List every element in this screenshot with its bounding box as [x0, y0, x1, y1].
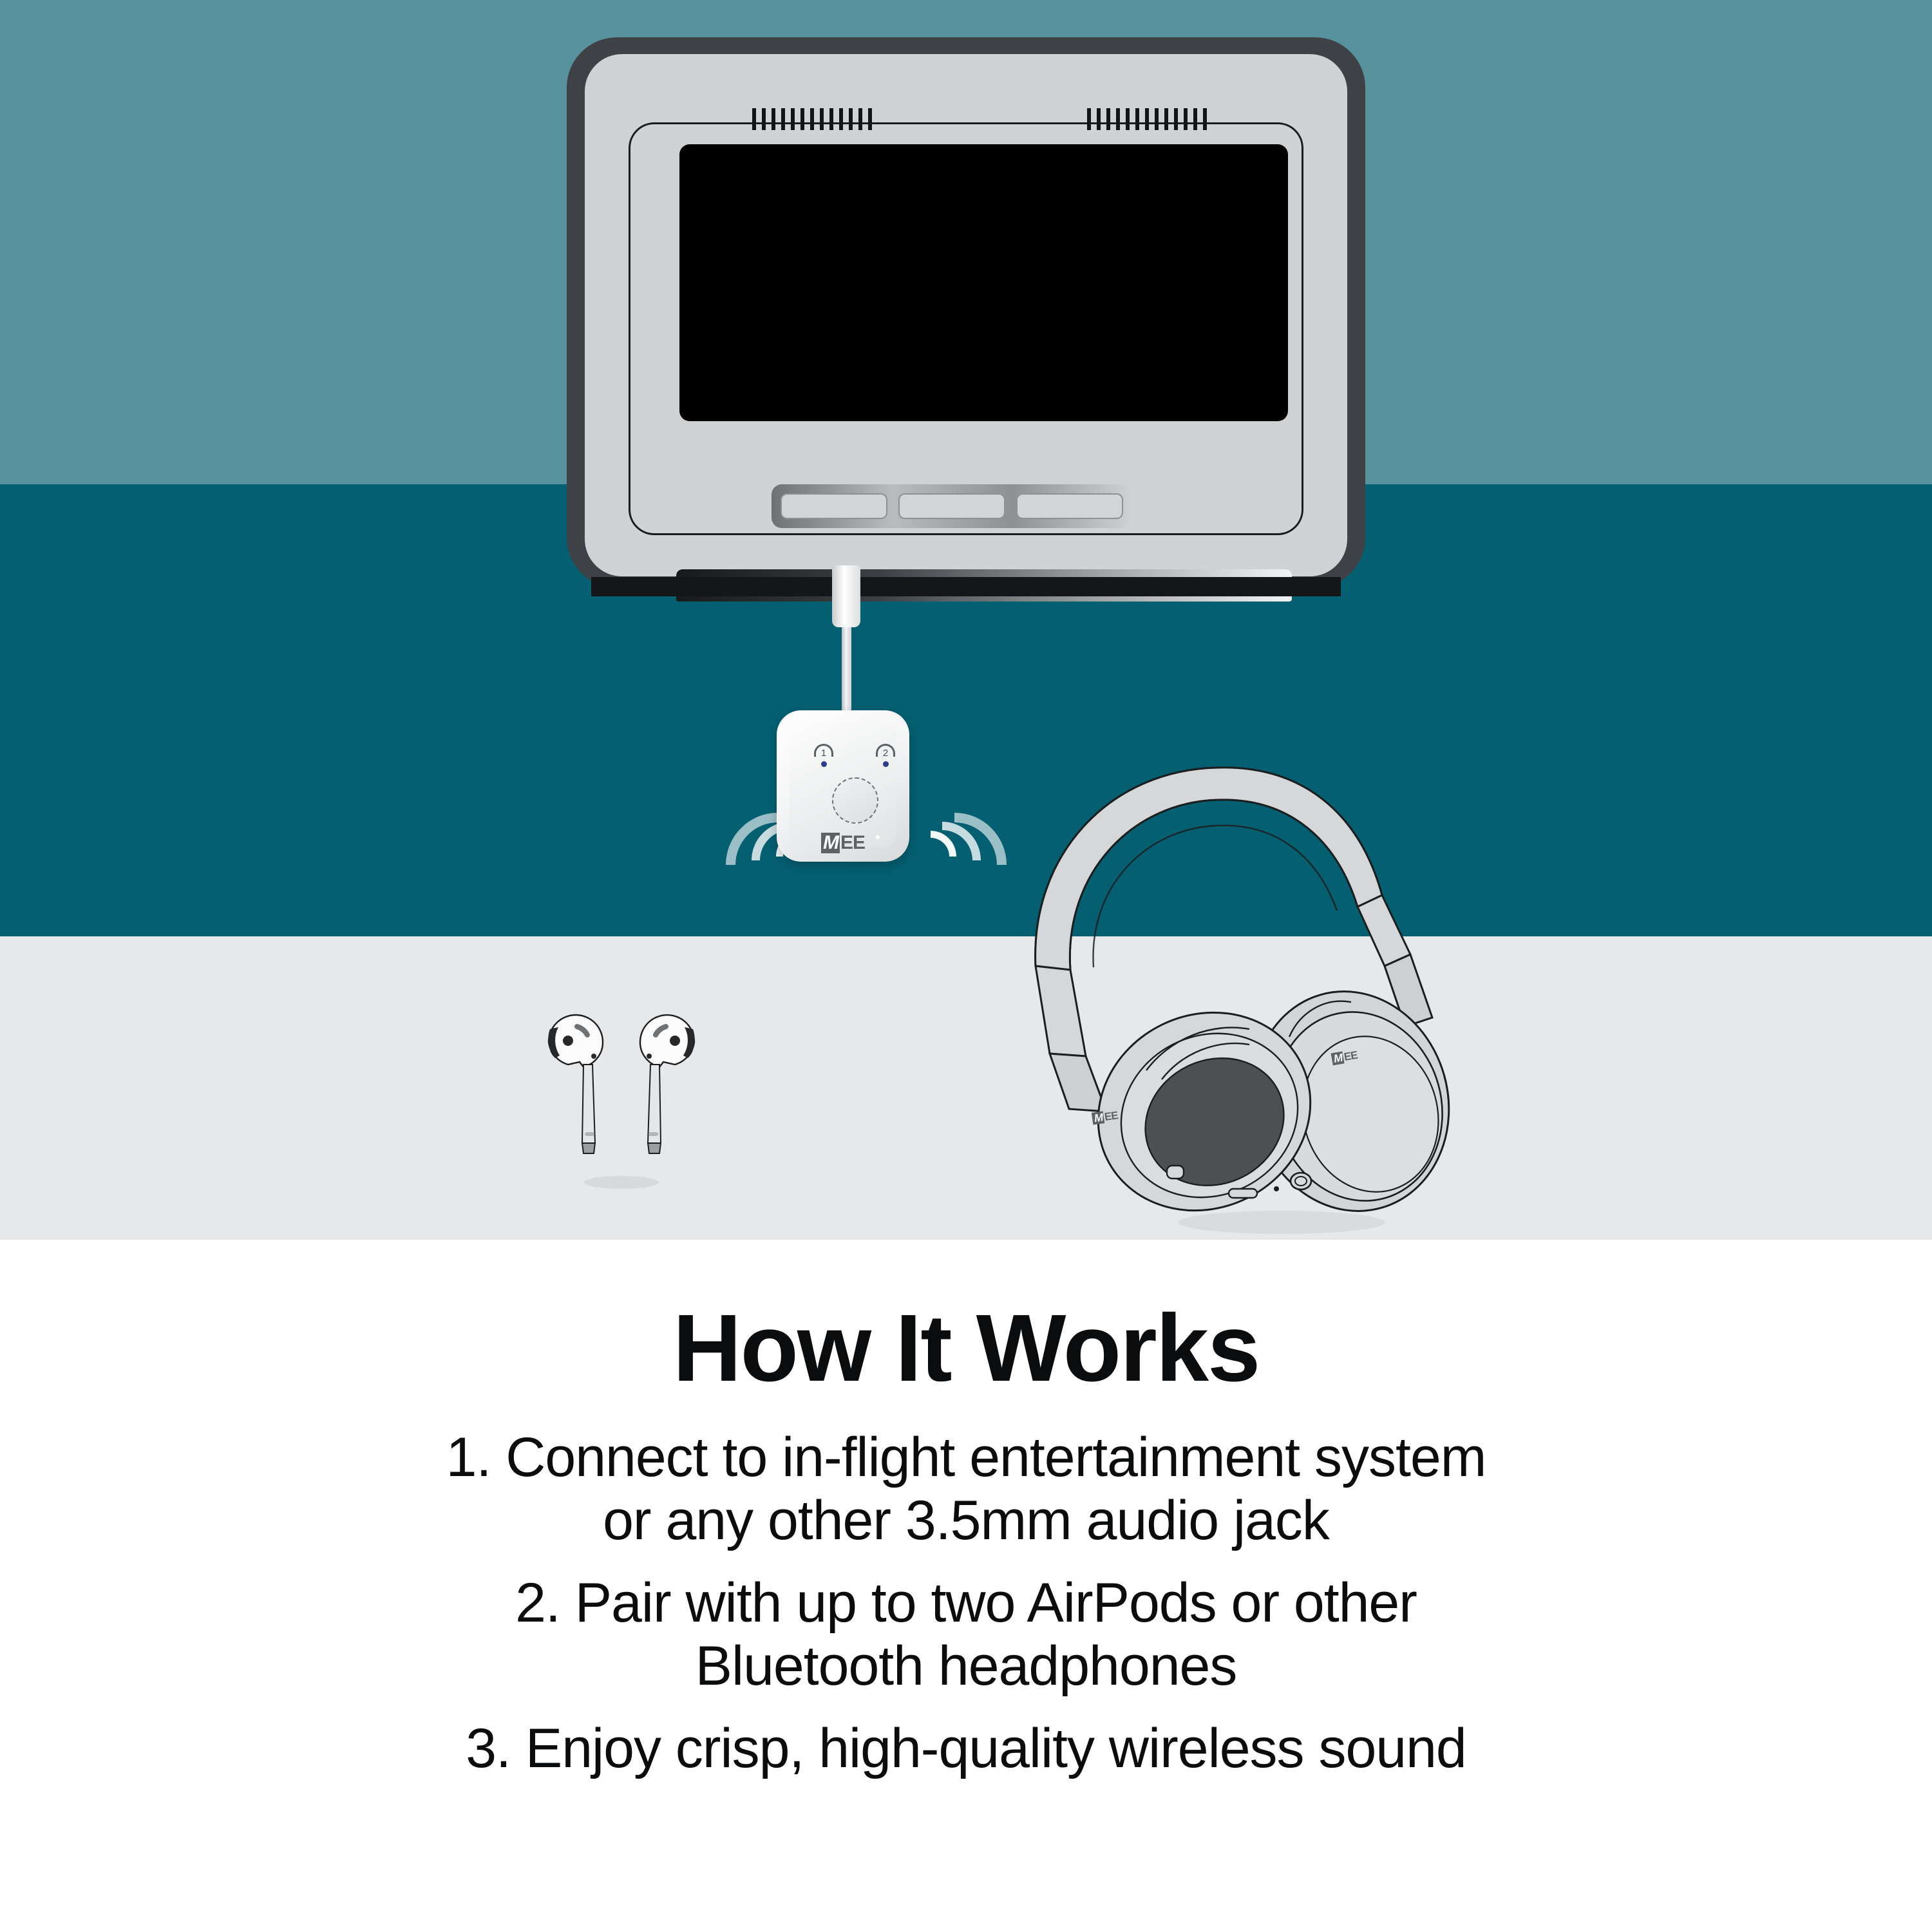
transmitter-brand-logo: MEE — [777, 833, 909, 853]
transmitter-face: 1 2 — [790, 721, 896, 848]
mee-logo-text-left: EE — [1103, 1110, 1119, 1122]
step-item-1: 1. Connect to in-flight entertainment sy… — [0, 1426, 1932, 1552]
ife-control-button-3[interactable] — [1016, 493, 1123, 519]
headphone-usb-port-icon — [1229, 1189, 1257, 1198]
mee-logo-text-right: EE — [1343, 1050, 1358, 1063]
headphone-led-icon — [1274, 1186, 1279, 1191]
speaker-grille-right-icon — [1087, 108, 1207, 130]
speaker-grille-left-icon — [752, 108, 872, 130]
ife-bezel — [585, 54, 1347, 576]
bluetooth-transmitter-device[interactable]: 1 2 MEE — [777, 710, 909, 862]
headband — [1036, 768, 1382, 970]
headphones-shadow — [1179, 1211, 1385, 1234]
mee-logo-mark: M — [821, 833, 840, 853]
background-band-gray — [0, 936, 1932, 1240]
channel-2-label: 2 — [875, 748, 896, 759]
step-1-line-2: or any other 3.5mm audio jack — [603, 1490, 1329, 1551]
mee-logo-text: EE — [840, 833, 865, 853]
step-2-line-2: Bluetooth headphones — [696, 1635, 1237, 1697]
bluetooth-wave-right-icon — [898, 817, 1040, 939]
ife-control-button-1[interactable] — [781, 493, 887, 519]
channel-2-led — [883, 761, 889, 767]
transmitter-pairing-button[interactable] — [832, 777, 878, 824]
earbud-right — [640, 1015, 695, 1153]
transmitter-channel-2: 2 — [875, 744, 898, 763]
step-3-line-1: 3. Enjoy crisp, high-quality wireless so… — [466, 1718, 1466, 1779]
wireless-earbuds-illustration — [535, 1010, 708, 1197]
how-it-works-section: How It Works 1. Connect to in-flight ent… — [0, 1301, 1932, 1799]
step-item-3: 3. Enjoy crisp, high-quality wireless so… — [0, 1717, 1932, 1780]
step-2-line-1: 2. Pair with up to two AirPods or other — [515, 1572, 1417, 1634]
earbuds-shadow — [584, 1176, 659, 1189]
infographic-page: 1 2 MEE — [0, 0, 1932, 1932]
channel-1-label: 1 — [813, 748, 835, 759]
earbud-left — [548, 1015, 603, 1153]
ife-control-button-row — [772, 484, 1132, 528]
step-1-line-1: 1. Connect to in-flight entertainment sy… — [446, 1426, 1486, 1488]
slider-right — [1358, 895, 1410, 966]
audio-plug-icon — [832, 565, 860, 627]
channel-1-led — [821, 761, 827, 767]
page-title: How It Works — [0, 1301, 1932, 1396]
transmitter-channel-1: 1 — [813, 744, 836, 763]
headphone-button-icon — [1167, 1166, 1184, 1179]
slider-left — [1036, 966, 1086, 1056]
over-ear-headphones-illustration: MEE MEE — [1024, 753, 1475, 1243]
ife-control-button-2[interactable] — [898, 493, 1005, 519]
step-item-2: 2. Pair with up to two AirPods or other … — [0, 1571, 1932, 1698]
audio-cable — [842, 620, 851, 723]
ife-display-panel[interactable] — [679, 144, 1288, 421]
ife-seatback-screen — [567, 37, 1365, 588]
ife-base-shadow — [591, 577, 1341, 596]
